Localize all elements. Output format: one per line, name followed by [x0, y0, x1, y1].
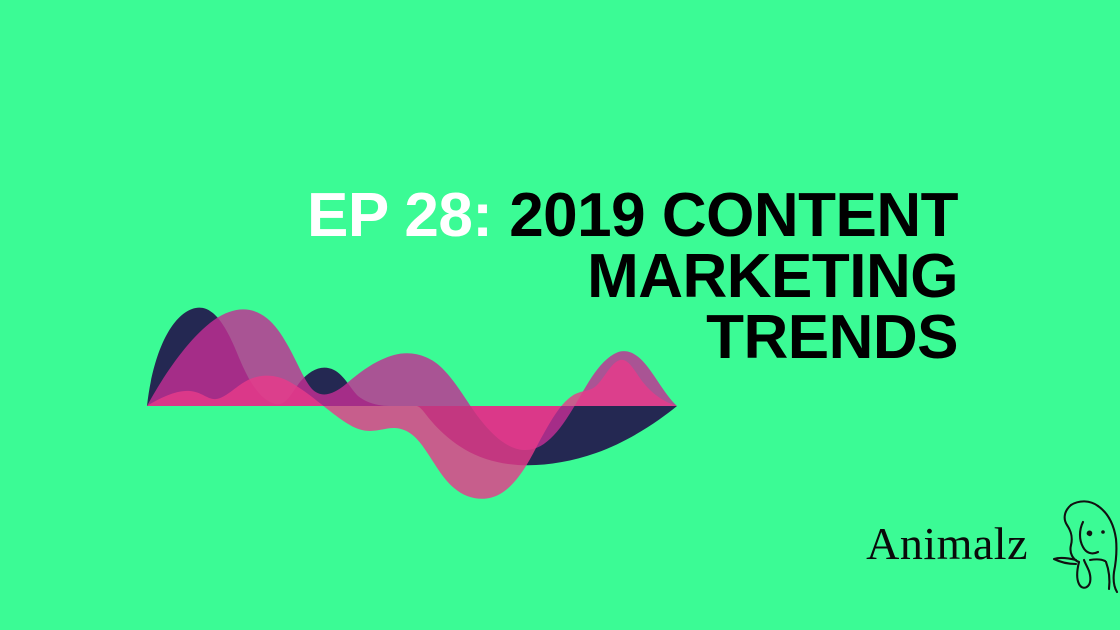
episode-number-label: EP 28:: [307, 181, 492, 250]
title-line-2: MARKETING: [218, 247, 958, 308]
animalz-wordmark: Animalz: [866, 521, 1028, 567]
title-line-1-rest: 2019 CONTENT: [509, 181, 958, 250]
title-line-3: TRENDS: [218, 308, 958, 369]
title-line-1: EP 28: 2019 CONTENT: [218, 186, 958, 247]
episode-cover-canvas: EP 28: 2019 CONTENT MARKETING TRENDS Ani…: [0, 0, 1120, 630]
title-line-1-text: [492, 181, 509, 250]
pink-wave-layer: [147, 360, 677, 499]
brand-lockup: Animalz: [866, 492, 1120, 596]
page-title: EP 28: 2019 CONTENT MARKETING TRENDS: [218, 186, 958, 368]
elephant-line-art-icon: [1046, 492, 1120, 596]
